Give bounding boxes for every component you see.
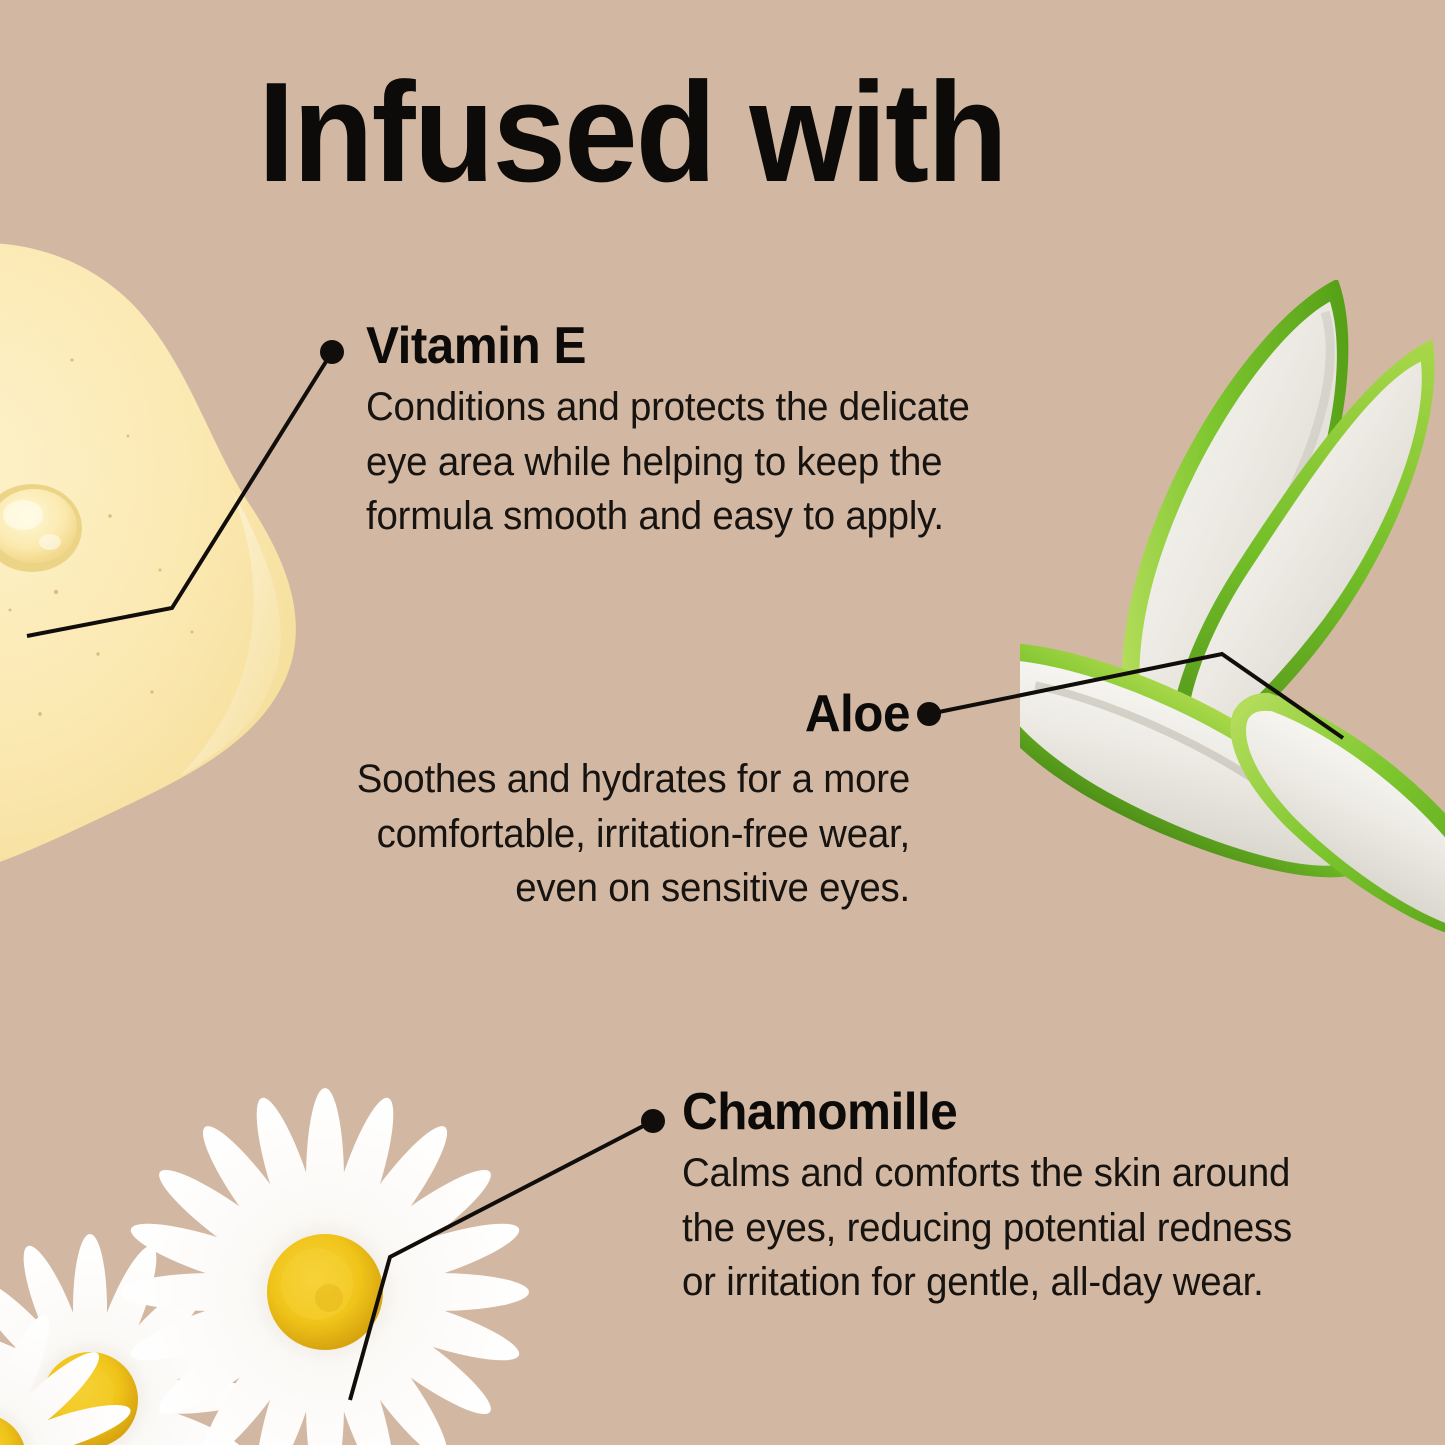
aloe-leaf-4 [1199,661,1445,979]
serum-speckles [0,358,194,716]
daisy-center [42,1352,138,1445]
ingredient-name-chamomille: Chamomille [682,1084,1309,1140]
vitamin-e-leader-dot [320,340,344,364]
chamomille-leader-line [350,1121,653,1400]
serum-bubble [0,484,82,572]
aloe-leaf-2 [1164,308,1442,799]
serum-blob-shape [0,243,296,883]
yellow-serum-swatch-image [0,240,320,920]
aloe-leader-dot [917,702,941,726]
daisy-center [267,1234,383,1350]
daisy-petals [0,1234,256,1445]
daisy-flower-main [121,1088,529,1445]
aloe-leaf-3 [1020,598,1396,927]
ingredient-name-vitamin-e: Vitamin E [366,318,993,374]
aloe-vera-leaves-image [1020,280,1445,1010]
aloe-leader-line [929,654,1343,738]
chamomile-daisy-flowers-image [0,1040,620,1445]
ingredient-description-vitamin-e: Conditions and protects the delicate eye… [366,380,1000,543]
daisy-petals [121,1088,529,1445]
vitamin-e-leader-line [27,352,332,636]
ingredient-vitamin-e: Vitamin E Conditions and protects the de… [366,318,1026,543]
ingredient-chamomille: Chamomille Calms and comforts the skin a… [682,1084,1342,1309]
infographic-canvas: Infused with Vitamin E Conditions and pr… [0,0,1445,1445]
ingredient-aloe: Aloe Soothes and hydrates for a more com… [300,686,910,915]
chamomille-leader-dot [641,1109,665,1133]
ingredient-name-aloe: Aloe [331,686,911,742]
daisy-flower-lower-left [0,1302,139,1445]
serum-highlight [180,490,281,776]
daisy-flower-back-left [0,1234,256,1445]
ingredient-description-chamomille: Calms and comforts the skin around the e… [682,1146,1316,1309]
daisy-center [0,1414,26,1445]
page-title: Infused with [258,62,1006,204]
ingredient-description-aloe: Soothes and hydrates for a more comforta… [324,752,910,915]
daisy-petals [0,1302,139,1445]
aloe-leaf-1 [1081,280,1391,761]
